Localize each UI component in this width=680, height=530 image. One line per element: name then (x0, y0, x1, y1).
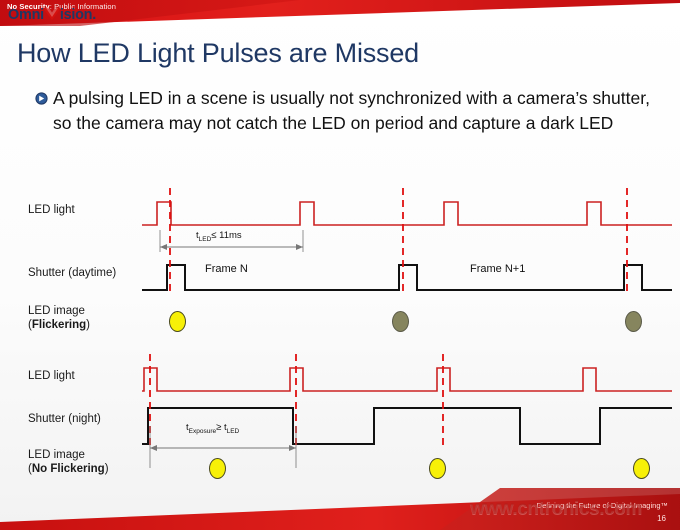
waveform-svg (0, 180, 680, 490)
texp-rest: ≥ t (216, 422, 227, 433)
led-marker-daytime-1 (169, 311, 186, 332)
logo-text-omni: Omni (8, 7, 44, 23)
texp-sub: Exposure (189, 428, 216, 435)
footer: Defining the Future of Digital Imaging™ … (0, 488, 680, 530)
annotation-tled: tLED≤ 11ms (196, 230, 242, 243)
trace-led-light-daytime (142, 202, 672, 225)
logo-v-chevron-icon (42, 7, 62, 21)
led-marker-daytime-3 (625, 311, 642, 332)
omnivision-logo: Omniision. (8, 7, 96, 23)
led-marker-night-3 (633, 458, 650, 479)
texp-arrowhead-left (150, 445, 157, 451)
footer-tagline: Defining the Future of Digital Imaging™ (537, 501, 668, 510)
texp-arrowhead-right (289, 445, 296, 451)
tled-arrowhead-right (296, 244, 303, 250)
bullet-text: A pulsing LED in a scene is usually not … (53, 86, 668, 136)
tled-rest: ≤ 11ms (211, 230, 241, 241)
bullet-row: A pulsing LED in a scene is usually not … (35, 86, 675, 136)
tled-arrowhead-left (160, 244, 167, 250)
led-marker-night-1 (209, 458, 226, 479)
frame-label-n-text: Frame N (205, 263, 248, 275)
timing-diagram: LED light Shutter (daytime) LED image (F… (0, 180, 680, 490)
annotation-texposure: tExposure≥ tLED (186, 422, 239, 435)
bullet-block: A pulsing LED in a scene is usually not … (35, 86, 675, 136)
tled-sub: LED (199, 236, 212, 243)
trace-led-light-night (142, 368, 672, 391)
led-marker-night-2 (429, 458, 446, 479)
texp-sub2: LED (227, 428, 240, 435)
logo-text-vision: ision. (60, 7, 96, 23)
diamond-arrow-bullet-icon (35, 92, 48, 105)
led-marker-daytime-2 (392, 311, 409, 332)
page-number: 16 (657, 514, 666, 523)
frame-label-n-plus-1: Frame N+1 (470, 263, 525, 275)
page-title: How LED Light Pulses are Missed (17, 38, 419, 69)
